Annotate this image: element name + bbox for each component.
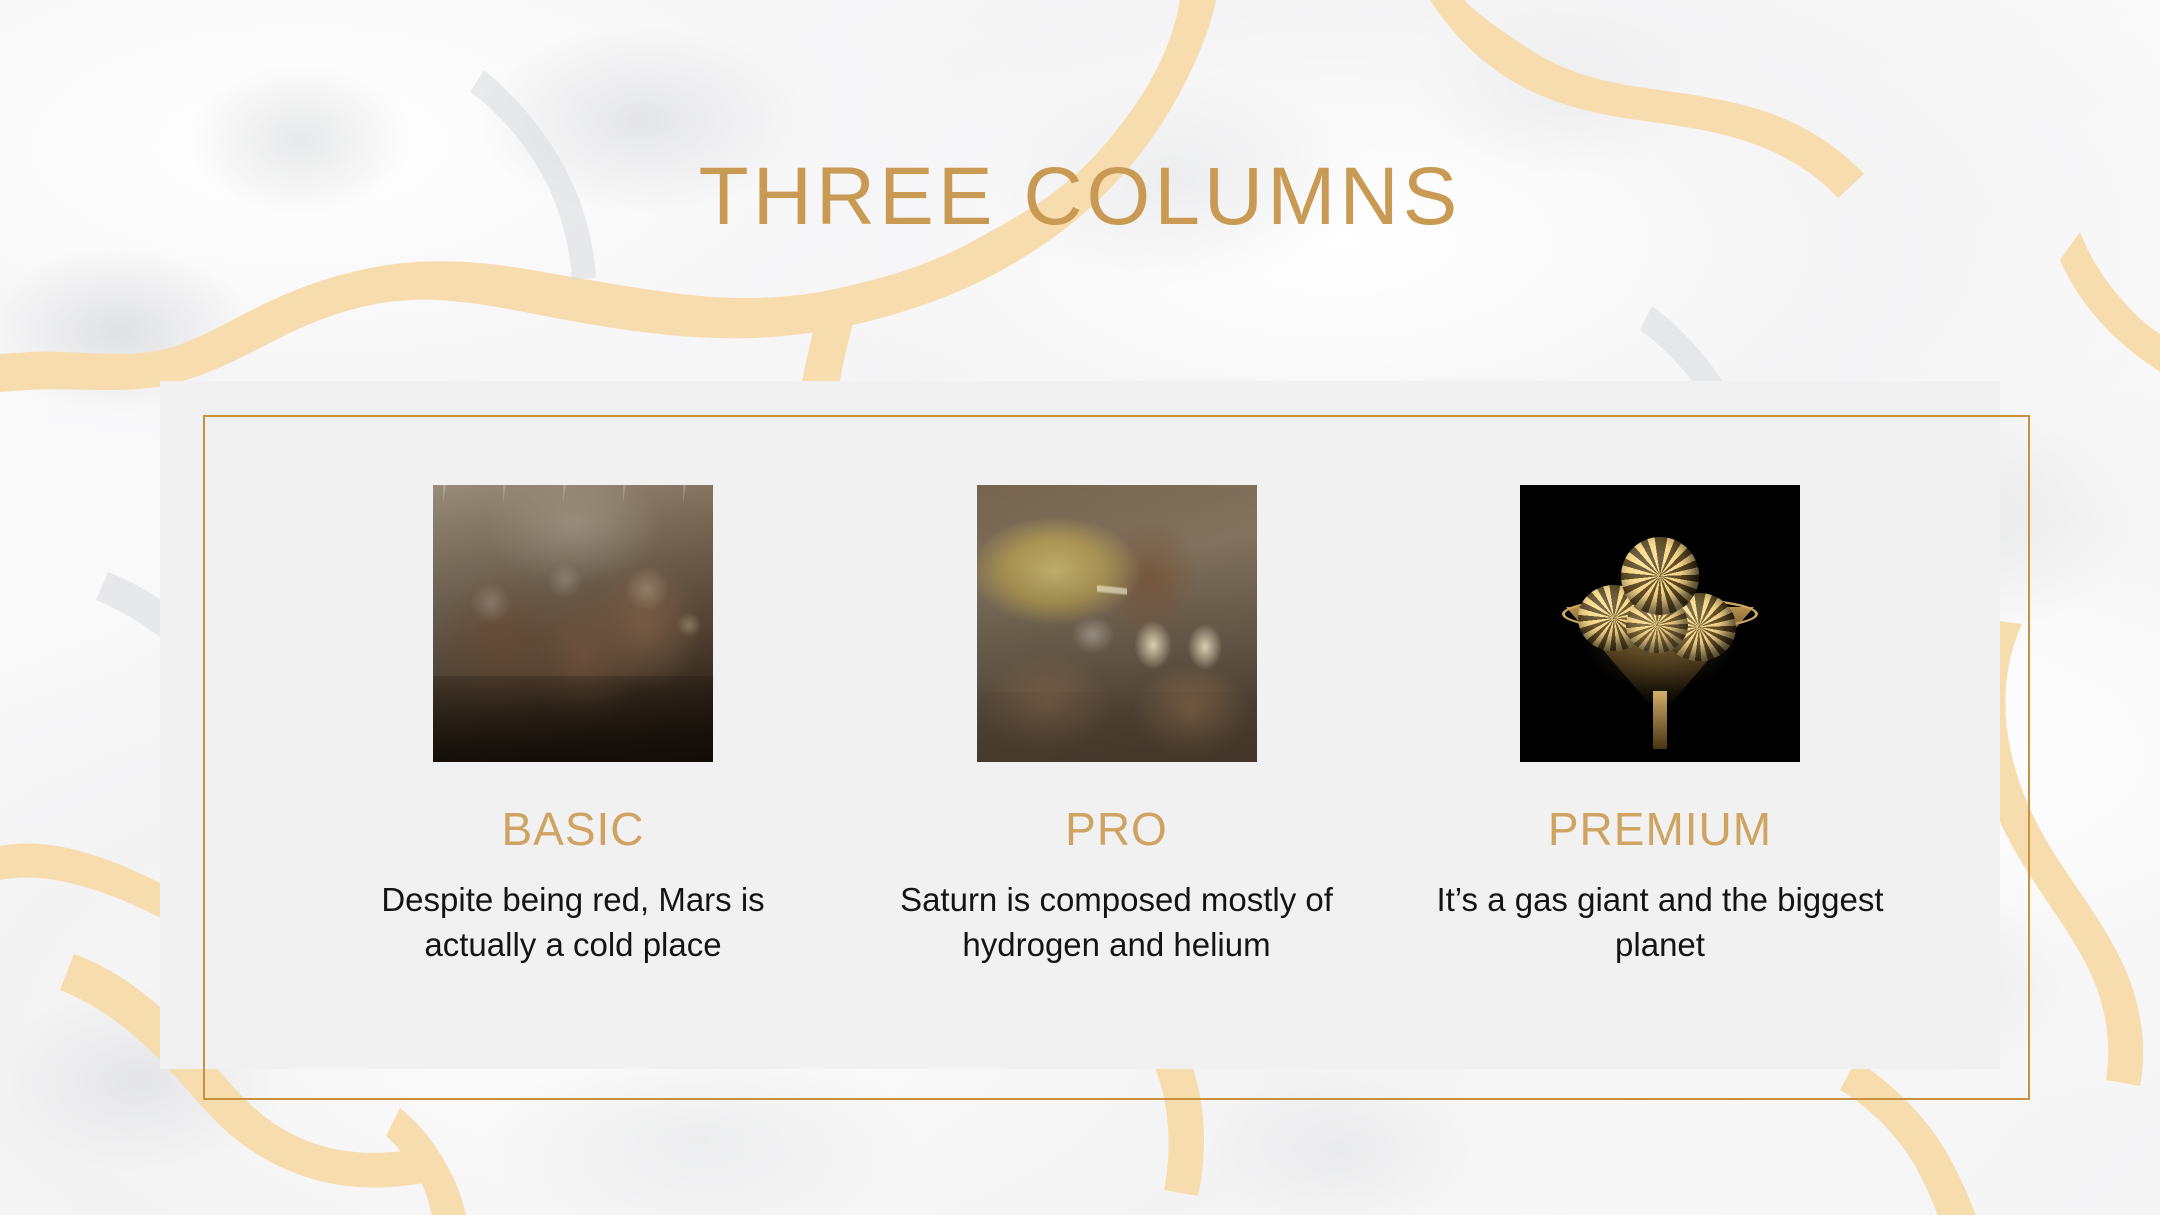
- column-premium: PREMIUM It’s a gas giant and the biggest…: [1430, 415, 1890, 1100]
- column-basic: BASIC Despite being red, Mars is actuall…: [343, 415, 803, 1100]
- column-title-pro: PRO: [1065, 802, 1168, 856]
- hands-toasting-champagne-photo: [433, 485, 713, 762]
- column-body-pro: Saturn is composed mostly of hydrogen an…: [887, 878, 1347, 967]
- disco-glare: [1520, 485, 1800, 762]
- gold-disco-balls-martini-glass-photo: [1520, 485, 1800, 762]
- slide-title: THREE COLUMNS: [0, 150, 2160, 244]
- column-title-premium: PREMIUM: [1548, 802, 1772, 856]
- column-body-premium: It’s a gas giant and the biggest planet: [1430, 878, 1890, 967]
- column-body-basic: Despite being red, Mars is actually a co…: [343, 878, 803, 967]
- pouring-champagne-photo: [977, 485, 1257, 762]
- column-title-basic: BASIC: [501, 802, 644, 856]
- three-column-layout: BASIC Despite being red, Mars is actuall…: [203, 415, 2030, 1100]
- slide-canvas: THREE COLUMNS BASIC Despite being red, M…: [0, 0, 2160, 1215]
- column-pro: PRO Saturn is composed mostly of hydroge…: [887, 415, 1347, 1100]
